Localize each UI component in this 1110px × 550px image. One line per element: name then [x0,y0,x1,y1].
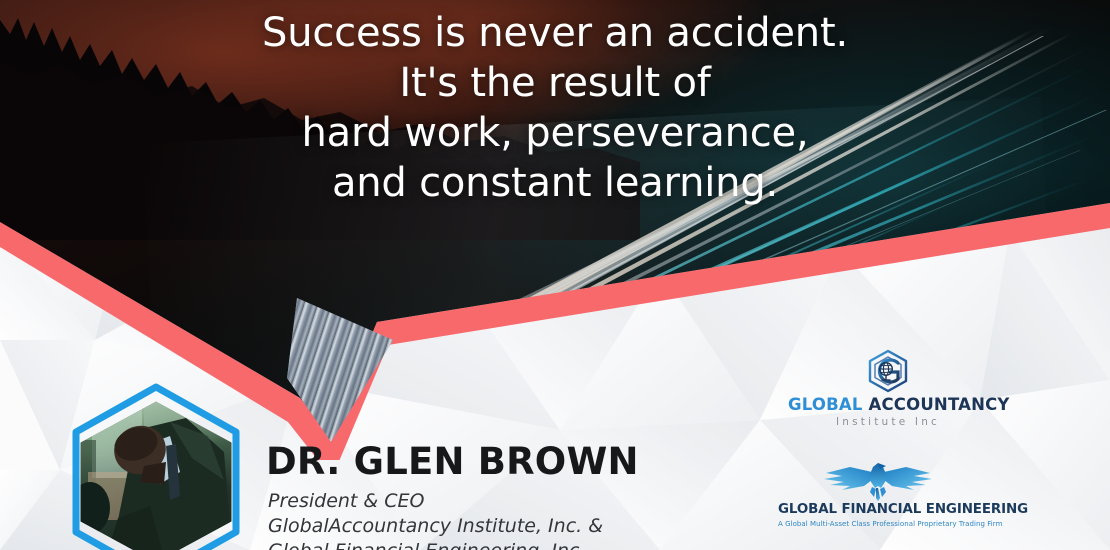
logo-accountancy-subtitle: Institute Inc [788,416,988,428]
role-line-3: Global Financial Engineering, Inc. [268,539,603,550]
role-line-1: President & CEO [268,489,603,514]
logo-global-accountancy: GLOBAL ACCOUNTANCY Institute Inc [788,349,988,428]
eagle-icon [778,462,978,502]
logo-accountancy-word-accountancy: ACCOUNTANCY [869,395,1010,414]
hexagon-globe-g-icon [788,349,988,393]
logo-gfe-wordmark: GLOBAL FINANCIAL ENGINEERING [778,502,978,517]
person-role: President & CEO GlobalAccountancy Instit… [268,489,603,550]
role-line-2: GlobalAccountancy Institute, Inc. & [268,514,603,539]
person-name: DR. GLEN BROWN [266,440,639,483]
logo-gfe-tagline: A Global Multi-Asset Class Professional … [778,520,978,528]
quote-card: Success is never an accident. It's the r… [0,0,1110,550]
logo-accountancy-wordmark: GLOBAL ACCOUNTANCY [788,395,988,414]
avatar-hex-ring [56,382,256,550]
avatar [56,382,256,550]
logo-global-financial-engineering: GLOBAL FINANCIAL ENGINEERING A Global Mu… [778,462,978,528]
logo-accountancy-word-global: GLOBAL [788,395,863,414]
